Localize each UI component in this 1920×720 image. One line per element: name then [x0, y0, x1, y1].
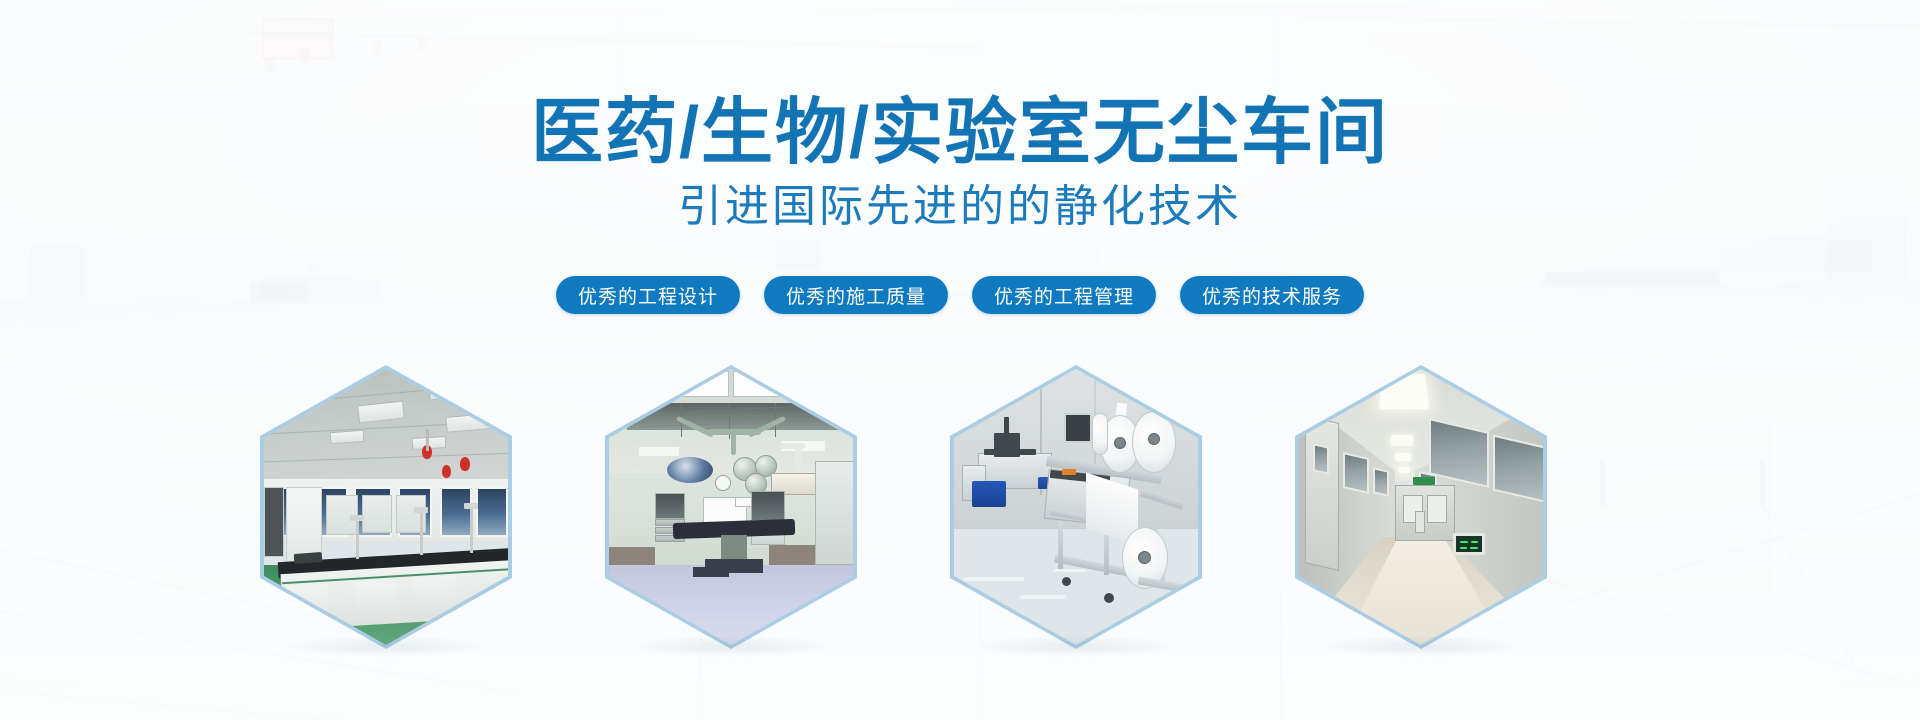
hexagon-image-production-workshop [954, 369, 1198, 645]
hexagon-image-operating-room [609, 369, 853, 645]
hexagon-operating-room[interactable] [605, 365, 857, 649]
page-title: 医药/生物/实验室无尘车间 [0, 96, 1920, 171]
badge-engineering-design[interactable]: 优秀的工程设计 [556, 276, 740, 314]
hexagon-gallery [0, 365, 1920, 655]
page-subtitle: 引进国际先进的的静化技术 [0, 183, 1920, 231]
feature-badge-list: 优秀的工程设计 优秀的施工质量 优秀的工程管理 优秀的技术服务 [0, 276, 1920, 314]
headline-block: 医药/生物/实验室无尘车间 引进国际先进的的静化技术 [0, 96, 1920, 231]
badge-construction-quality[interactable]: 优秀的施工质量 [764, 276, 948, 314]
hexagon-image-laboratory-room [264, 369, 508, 645]
badge-project-management[interactable]: 优秀的工程管理 [972, 276, 1156, 314]
hexagon-cleanroom-corridor[interactable] [1295, 365, 1547, 649]
hexagon-image-cleanroom-corridor [1299, 369, 1543, 645]
badge-technical-service[interactable]: 优秀的技术服务 [1180, 276, 1364, 314]
hero-banner: 医药/生物/实验室无尘车间 引进国际先进的的静化技术 优秀的工程设计 优秀的施工… [0, 0, 1920, 720]
hexagon-production-workshop[interactable] [950, 365, 1202, 649]
hexagon-laboratory-room[interactable] [260, 365, 512, 649]
